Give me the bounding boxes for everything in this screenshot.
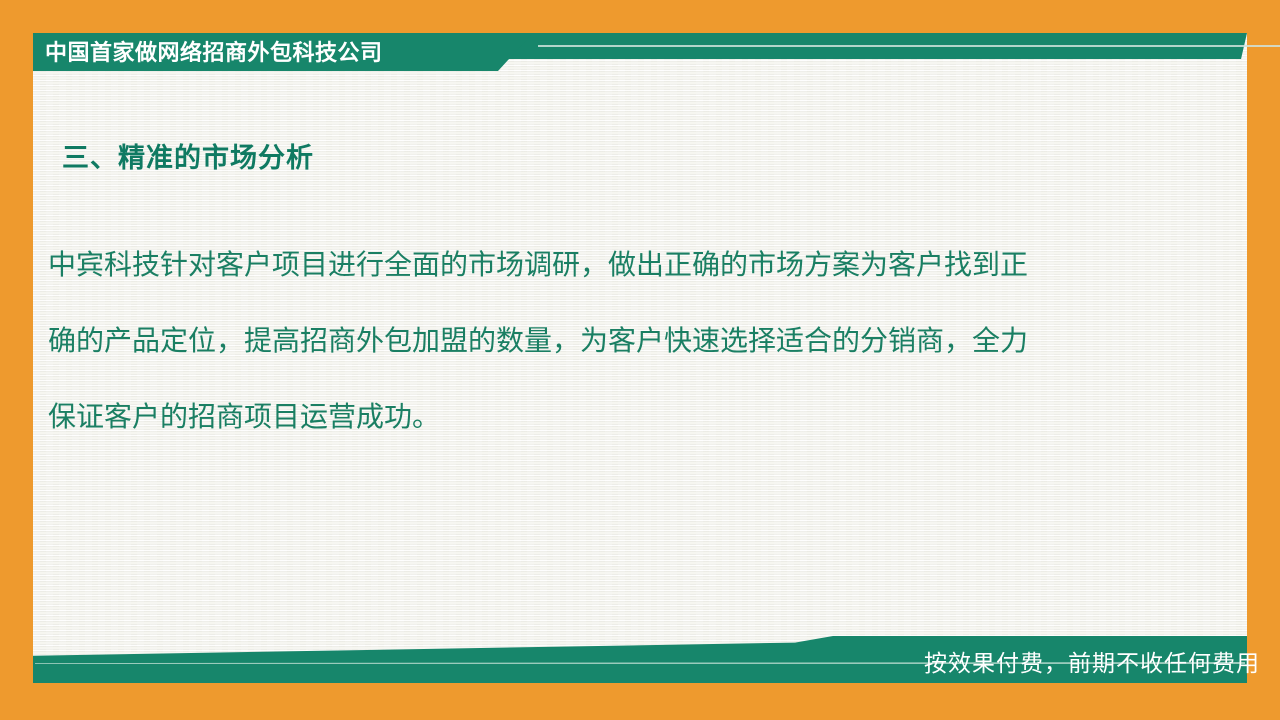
body-line-1: 中宾科技针对客户项目进行全面的市场调研，做出正确的市场方案为客户找到正 [48, 228, 1183, 304]
body-line-3: 保证客户的招商项目运营成功。 [48, 380, 1183, 456]
header-hairline-divider [538, 45, 1280, 47]
section-heading: 三、精准的市场分析 [62, 136, 314, 175]
frame-strip-top [0, 0, 1280, 33]
body-paragraph: 中宾科技针对客户项目进行全面的市场调研，做出正确的市场方案为客户找到正 确的产品… [48, 228, 1183, 456]
slide-canvas: 中国首家做网络招商外包科技公司 三、精准的市场分析 中宾科技针对客户项目进行全面… [0, 0, 1280, 720]
body-line-2: 确的产品定位，提高招商外包加盟的数量，为客户快速选择适合的分销商，全力 [48, 304, 1183, 380]
footer-tagline: 按效果付费，前期不收任何费用 [924, 648, 1260, 678]
header-title: 中国首家做网络招商外包科技公司 [45, 36, 383, 70]
frame-strip-bottom [0, 683, 1280, 720]
